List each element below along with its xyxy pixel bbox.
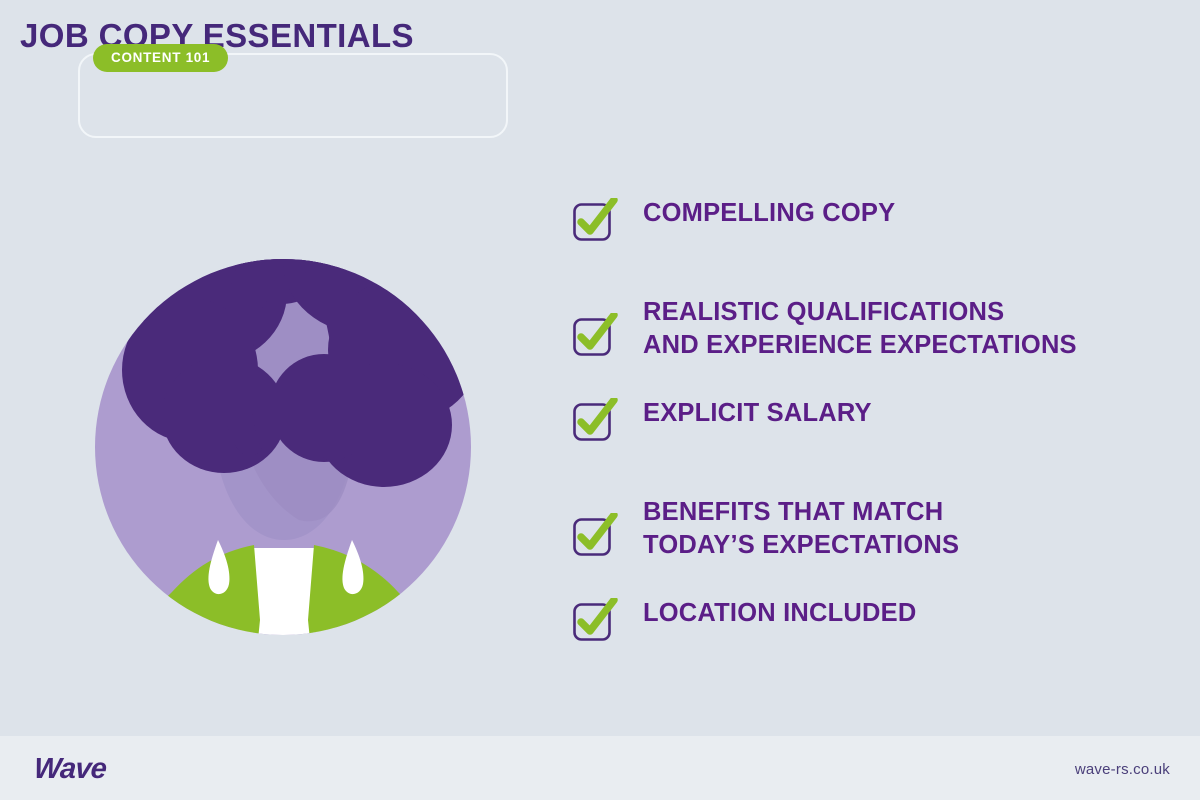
checkbox-checked-icon[interactable]: [573, 598, 619, 642]
wave-logo: Wave: [33, 753, 107, 786]
checkbox-checked-icon[interactable]: [573, 313, 619, 357]
category-badge: CONTENT 101: [93, 44, 228, 72]
checkbox-checked-icon[interactable]: [573, 513, 619, 557]
checklist-item[interactable]: REALISTIC QUALIFICATIONS AND EXPERIENCE …: [573, 296, 1153, 396]
illustration-woman: [84, 200, 484, 660]
checklist: COMPELLING COPY REALISTIC QUALIFICATIONS…: [573, 196, 1153, 696]
footer-bar: Wave wave-rs.co.uk: [0, 736, 1200, 800]
checklist-item-label: REALISTIC QUALIFICATIONS AND EXPERIENCE …: [643, 296, 1077, 362]
checklist-item-label: COMPELLING COPY: [643, 196, 895, 230]
checklist-item[interactable]: COMPELLING COPY: [573, 196, 1153, 296]
site-url: wave-rs.co.uk: [1075, 761, 1170, 778]
checklist-item-label: EXPLICIT SALARY: [643, 396, 872, 430]
checkbox-checked-icon[interactable]: [573, 198, 619, 242]
checkbox-checked-icon[interactable]: [573, 398, 619, 442]
checklist-item-label: LOCATION INCLUDED: [643, 596, 917, 630]
checklist-item[interactable]: EXPLICIT SALARY: [573, 396, 1153, 496]
checklist-item[interactable]: BENEFITS THAT MATCH TODAY’S EXPECTATIONS: [573, 496, 1153, 596]
checklist-item[interactable]: LOCATION INCLUDED: [573, 596, 1153, 696]
checklist-item-label: BENEFITS THAT MATCH TODAY’S EXPECTATIONS: [643, 496, 959, 562]
